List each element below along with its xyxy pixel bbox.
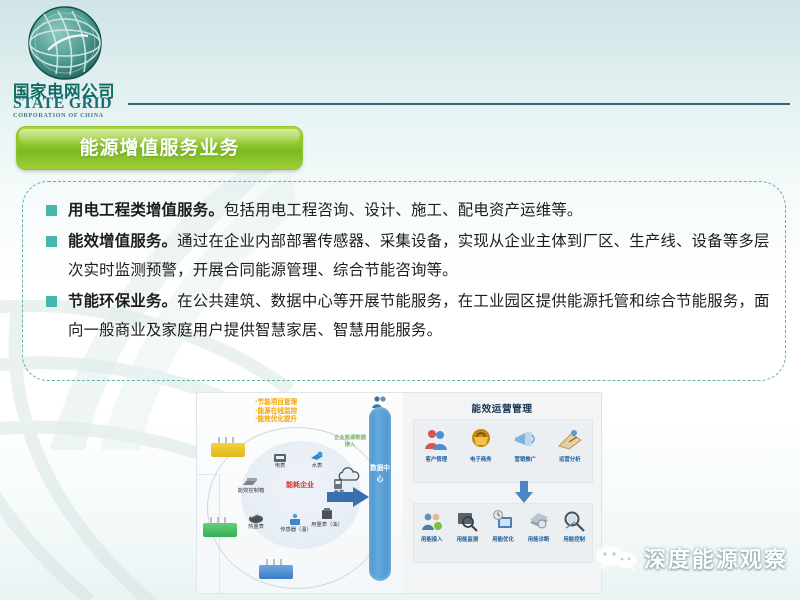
bullet-lead: 节能环保业务。 xyxy=(68,292,177,310)
factory-green-icon xyxy=(203,517,237,537)
diagram-right-panel: 能效运营管理 客户管理 电子商务 xyxy=(403,393,601,593)
ecommerce-icon xyxy=(468,426,494,452)
bullet-lead: 用电工程类增值服务。 xyxy=(68,201,224,219)
water-meter-icon xyxy=(309,449,323,460)
bullet-lead: 能效增值服务。 xyxy=(68,232,177,250)
energy-label: 用能优化 xyxy=(492,535,514,543)
customer-management-icon xyxy=(423,426,449,452)
oil-meter-icon xyxy=(319,507,333,518)
ops-panel-title: 能效运营管理 xyxy=(403,401,601,415)
slide-canvas: 国家电网公司 STATE GRID CORPORATION OF CHINA 能… xyxy=(0,0,800,600)
wechat-icon xyxy=(594,545,640,571)
energy-monitor-icon xyxy=(456,510,478,532)
slide-title-banner: 能源增值服务业务 xyxy=(16,126,303,170)
bullet-text: 能效增值服务。通过在企业内部部署传感器、采集设备，实现从企业主体到厂区、生产线、… xyxy=(68,227,770,285)
highlight-line: ·节能项目管理 xyxy=(255,398,365,407)
meter-label: 水表 xyxy=(300,463,334,469)
list-item: 节能环保业务。在公共建筑、数据中心等开展节能服务，在工业园区提供能源托管和综合节… xyxy=(46,287,770,345)
energy-cell[interactable]: 用能监测 xyxy=(450,504,486,562)
ops-cell[interactable]: 运营分析 xyxy=(548,420,593,482)
electric-meter-icon xyxy=(273,451,287,462)
architecture-diagram: ·节能项目管理 ·能源在线监控 ·能效优化提升 xyxy=(196,392,602,594)
ops-row-panel: 客户管理 电子商务 营销推广 xyxy=(413,419,593,483)
brand-english-name: STATE GRID xyxy=(13,96,125,111)
ops-label: 运营分析 xyxy=(559,455,581,463)
marketing-megaphone-icon xyxy=(512,426,538,452)
diagram-left-panel: ·节能项目管理 ·能源在线监控 ·能效优化提升 xyxy=(197,393,403,593)
meter-label: 传感器（温） xyxy=(279,527,313,533)
energy-cell[interactable]: 用能优化 xyxy=(485,504,521,562)
energy-access-icon xyxy=(421,510,443,532)
data-center-label: 数据中心 xyxy=(369,463,391,485)
ops-label: 营销推广 xyxy=(514,455,536,463)
diagram-highlight-list: ·节能项目管理 ·能源在线监控 ·能效优化提升 xyxy=(255,398,365,424)
bullet-text: 节能环保业务。在公共建筑、数据中心等开展节能服务，在工业园区提供能源托管和综合节… xyxy=(68,287,770,345)
wechat-watermark: 深度能源观察 xyxy=(594,542,788,574)
brand-english-subtitle: CORPORATION OF CHINA xyxy=(13,112,125,119)
energy-cell[interactable]: 用能接入 xyxy=(414,504,450,562)
ops-cell[interactable]: 营销推广 xyxy=(503,420,548,482)
dataflow-label: 企业能源数据接入 xyxy=(333,435,367,448)
control-box-icon xyxy=(241,475,255,486)
bullet-list: 用电工程类增值服务。包括用电工程咨询、设计、施工、配电资产运维等。 能效增值服务… xyxy=(46,196,770,347)
bullet-square-icon xyxy=(46,296,57,307)
down-arrow-icon xyxy=(515,481,533,503)
factory-blue-icon xyxy=(259,559,293,579)
ops-cell[interactable]: 客户管理 xyxy=(414,420,459,482)
state-grid-logo: 国家电网公司 STATE GRID CORPORATION OF CHINA xyxy=(8,4,126,116)
bullet-rest: 包括用电工程咨询、设计、施工、配电资产运维等。 xyxy=(224,201,583,219)
highlight-line: ·能源在线监控 xyxy=(255,407,365,416)
energy-label: 用能接入 xyxy=(421,535,443,543)
ops-label: 电子商务 xyxy=(470,455,492,463)
state-grid-globe-emblem xyxy=(26,4,104,82)
meter-label: 热量表 xyxy=(239,524,273,530)
meter-label: 电表 xyxy=(263,463,297,469)
page-title: 能源增值服务业务 xyxy=(17,127,302,169)
energy-label: 用能监测 xyxy=(457,535,479,543)
energy-cell[interactable]: 用能诊断 xyxy=(521,504,557,562)
header-divider xyxy=(128,103,790,105)
energy-row-panel: 用能接入 用能监测 用能优化 xyxy=(413,503,593,563)
sensor-icon xyxy=(287,513,301,524)
meter-label: 能效控制箱 xyxy=(233,488,269,494)
energy-optimize-icon xyxy=(492,510,514,532)
energy-label: 用能诊断 xyxy=(528,535,550,543)
analysis-icon xyxy=(557,426,583,452)
ops-cell[interactable]: 电子商务 xyxy=(459,420,504,482)
highlight-line: ·能效优化提升 xyxy=(255,415,365,424)
watermark-text: 深度能源观察 xyxy=(644,542,788,574)
meter-label: 用量表（油） xyxy=(309,522,345,528)
right-arrow-icon xyxy=(327,487,369,507)
energy-control-icon xyxy=(563,510,585,532)
energy-cell[interactable]: 用能控制 xyxy=(556,504,592,562)
enterprise-center-label: 能耗企业 xyxy=(281,481,319,490)
factory-yellow-icon xyxy=(211,437,245,457)
ops-label: 客户管理 xyxy=(425,455,447,463)
bullet-square-icon xyxy=(46,205,57,216)
cloud-icon xyxy=(336,467,362,483)
bullet-square-icon xyxy=(46,236,57,247)
energy-diagnose-icon xyxy=(528,510,550,532)
data-center-column: 数据中心 xyxy=(369,407,391,581)
heat-meter-icon xyxy=(247,511,261,522)
energy-label: 用能控制 xyxy=(563,535,585,543)
bullet-text: 用电工程类增值服务。包括用电工程咨询、设计、施工、配电资产运维等。 xyxy=(68,196,770,225)
list-item: 能效增值服务。通过在企业内部部署传感器、采集设备，实现从企业主体到厂区、生产线、… xyxy=(46,227,770,285)
list-item: 用电工程类增值服务。包括用电工程咨询、设计、施工、配电资产运维等。 xyxy=(46,196,770,225)
